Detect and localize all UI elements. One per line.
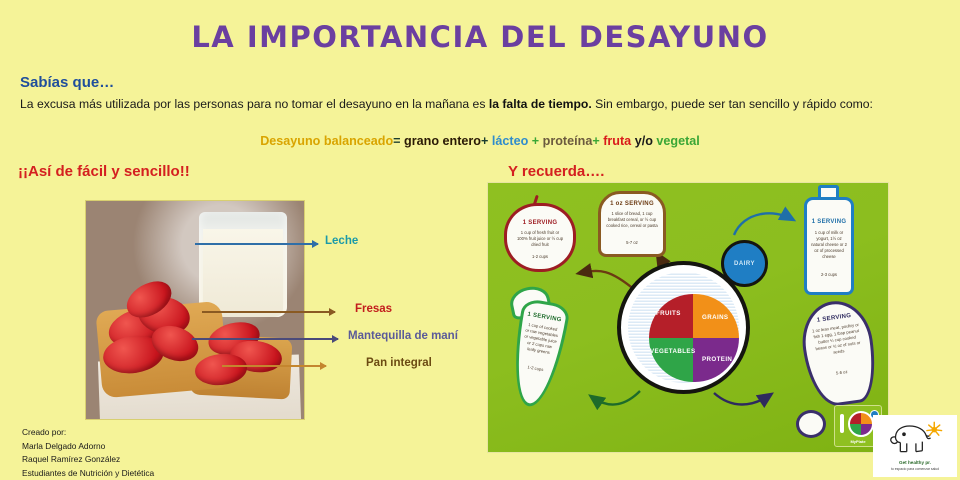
credits-line-3: Raquel Ramírez González bbox=[22, 453, 154, 467]
plate-label-fruits: FRUITS bbox=[656, 310, 681, 317]
formula-plus-1: + bbox=[481, 134, 488, 148]
formula-plus-2: + bbox=[532, 134, 539, 148]
brand-logo-text: Get healthy pr. tu espacio para comenzar… bbox=[873, 460, 957, 472]
callout-milk-heading: 1 SERVING bbox=[807, 218, 851, 227]
mantequilla-arrow bbox=[192, 338, 338, 340]
myplate-infographic: FRUITS GRAINS VEGETABLES PROTEIN DAIRY 1… bbox=[487, 182, 889, 453]
elephant-icon bbox=[873, 415, 957, 459]
callout-drumstick-amount: 5-6 oz bbox=[810, 365, 874, 380]
credits-line-2: Marla Delgado Adorno bbox=[22, 440, 154, 454]
formula-dairy: lácteo bbox=[492, 134, 528, 148]
formula-andor: y/o bbox=[635, 134, 653, 148]
left-section-heading: ¡¡Así de fácil y sencillo!! bbox=[18, 163, 190, 180]
plate-label-protein: PROTEIN bbox=[702, 356, 732, 363]
breakfast-photo bbox=[85, 200, 305, 420]
photo-label-pan-integral: Pan integral bbox=[366, 357, 432, 369]
photo-label-leche: Leche bbox=[325, 235, 358, 247]
intro-paragraph-bold: la falta de tiempo. bbox=[489, 97, 592, 111]
formula-balanced: Desayuno balanceado bbox=[260, 134, 393, 148]
callout-apple-heading: 1 SERVING bbox=[507, 219, 573, 228]
photo-label-fresas: Fresas bbox=[355, 303, 392, 315]
plate-label-grains: GRAINS bbox=[702, 314, 728, 321]
pan-integral-arrow bbox=[222, 365, 326, 367]
formula-grain: grano entero bbox=[404, 134, 481, 148]
dairy-circle: DAIRY bbox=[721, 240, 768, 287]
callout-apple-body: 1 cup of fresh fruit or 100% fruit juice… bbox=[507, 230, 573, 248]
formula-vegetable: vegetal bbox=[656, 134, 699, 148]
intro-paragraph-part1: La excusa más utilizada por las personas… bbox=[20, 97, 489, 111]
slide-canvas: LA IMPORTANCIA DEL DESAYUNO Sabías que… … bbox=[0, 0, 960, 480]
callout-apple-amount: 1-2 cups bbox=[507, 254, 573, 260]
leche-arrow bbox=[195, 243, 318, 245]
plate-rim: FRUITS GRAINS VEGETABLES PROTEIN bbox=[628, 272, 739, 383]
intro-paragraph: La excusa más utilizada por las personas… bbox=[20, 95, 945, 114]
callout-milk-bottle: 1 SERVING 1 cup of milk or yogurt, 1½ oz… bbox=[804, 197, 854, 295]
callout-bread-heading: 1 oz SERVING bbox=[601, 200, 663, 209]
credits-line-4: Estudiantes de Nutrición y Dietética bbox=[22, 467, 154, 480]
callout-milk-body: 1 cup of milk or yogurt, 1½ oz natural c… bbox=[807, 230, 851, 260]
credits-line-1: Creado por: bbox=[22, 426, 154, 440]
milk-glass bbox=[199, 212, 286, 317]
right-section-heading: Y recuerda…. bbox=[508, 163, 604, 180]
callout-bread: 1 oz SERVING 1 slice of bread, 1 cup bre… bbox=[598, 191, 666, 257]
dairy-label: DAIRY bbox=[734, 261, 755, 267]
formula-equals: = bbox=[393, 134, 400, 148]
callout-drumstick-body: 1 oz lean meat, poultry or fish 1 egg, 1… bbox=[803, 321, 871, 360]
fork-icon bbox=[840, 414, 844, 433]
plate-section-vegetables bbox=[649, 338, 693, 382]
callout-bread-body: 1 slice of bread, 1 cup breakfast cereal… bbox=[601, 211, 663, 229]
brand-logo-title: Get healthy pr. bbox=[899, 460, 931, 465]
page-title: LA IMPORTANCIA DEL DESAYUNO bbox=[0, 20, 960, 54]
plate-label-vegetables: VEGETABLES bbox=[650, 348, 695, 355]
intro-heading: Sabías que… bbox=[20, 74, 114, 91]
callout-carrot-amount: 1-2 cups bbox=[514, 362, 556, 375]
callout-bread-amount: 5-7 oz bbox=[601, 240, 663, 246]
fresas-arrow bbox=[202, 311, 335, 313]
callout-apple: 1 SERVING 1 cup of fresh fruit or 100% f… bbox=[504, 203, 576, 272]
formula-plus-3: + bbox=[592, 134, 599, 148]
drumstick-bone-icon bbox=[796, 410, 826, 438]
credits-block: Creado por: Marla Delgado Adorno Raquel … bbox=[22, 426, 154, 480]
formula-fruit: fruta bbox=[603, 134, 631, 148]
photo-label-mantequilla: Mantequilla de maní bbox=[348, 330, 458, 342]
formula-protein: proteína bbox=[543, 134, 593, 148]
balanced-breakfast-formula: Desayuno balanceado= grano entero+ lácte… bbox=[0, 134, 960, 148]
callout-milk-amount: 2-3 cups bbox=[807, 272, 851, 278]
callout-carrot-body: 1 cup of cooked or raw vegetables or veg… bbox=[517, 321, 564, 358]
brand-logo-subtitle: tu espacio para comenzar salud bbox=[873, 467, 957, 472]
brand-logo: Get healthy pr. tu espacio para comenzar… bbox=[873, 415, 957, 477]
intro-paragraph-part2: Sin embargo, puede ser tan sencillo y rá… bbox=[592, 97, 873, 111]
